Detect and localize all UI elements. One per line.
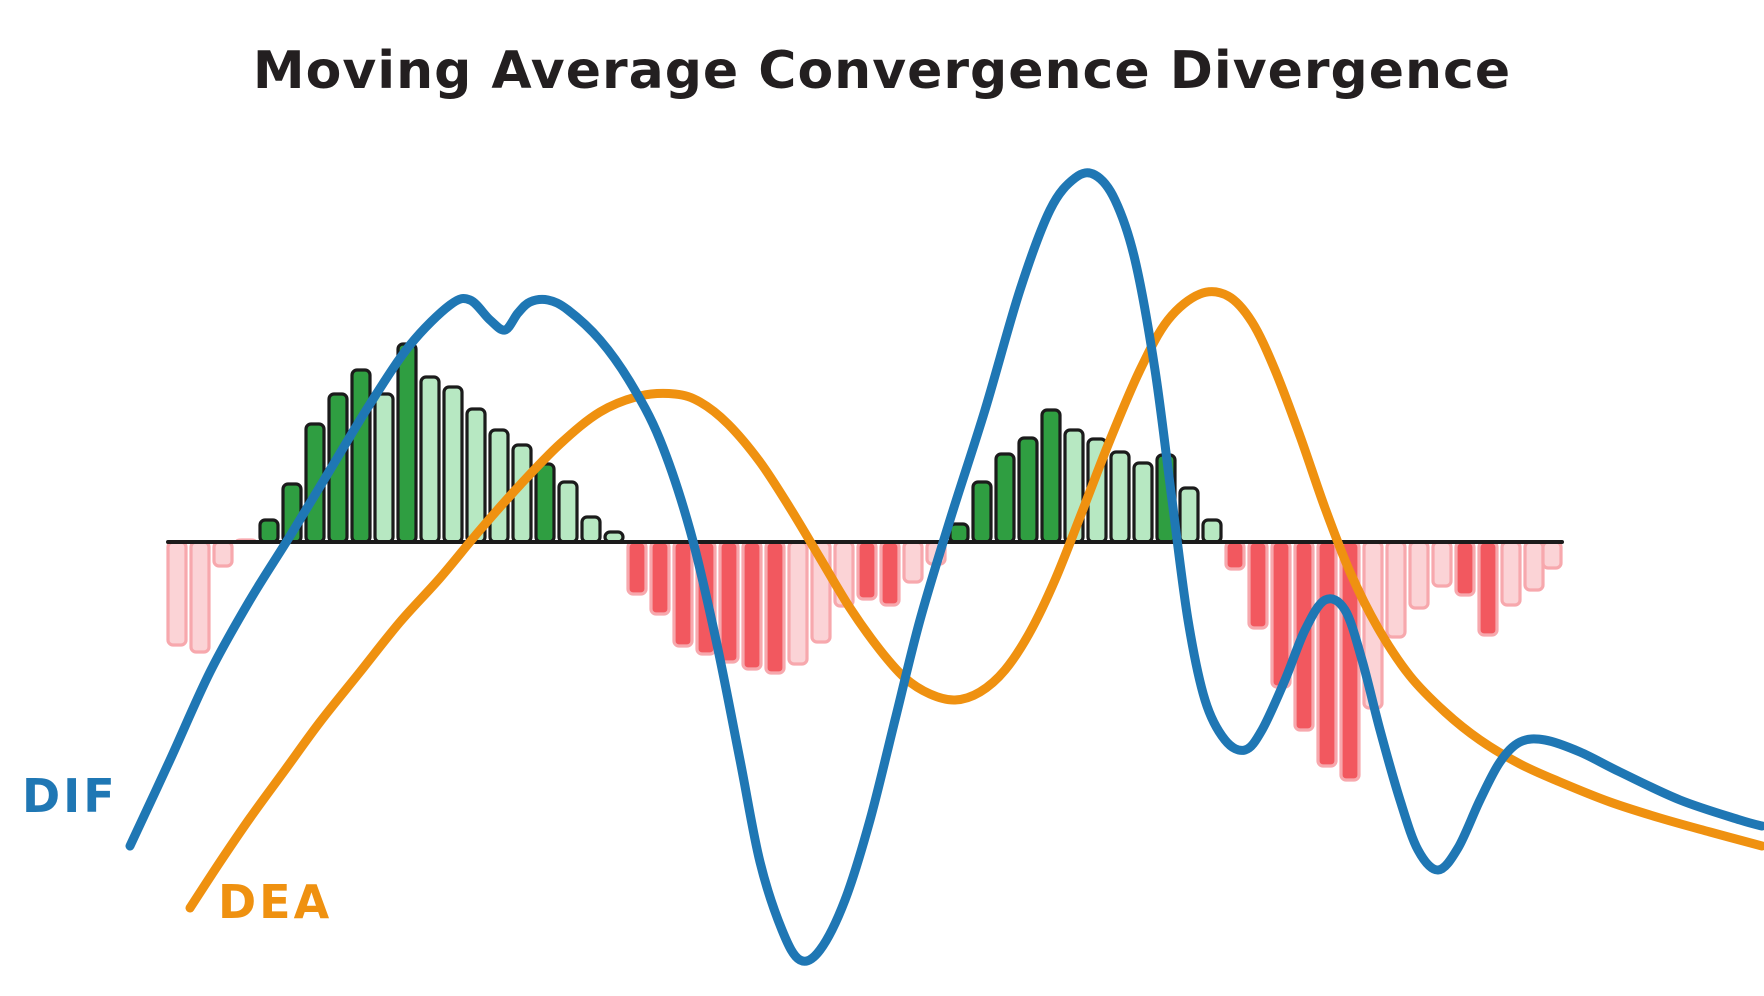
- histogram-bar: [789, 542, 807, 664]
- macd-chart-root: Moving Average Convergence Divergence DI…: [0, 0, 1764, 996]
- histogram-bar: [858, 542, 876, 599]
- histogram-bar: [1042, 410, 1060, 542]
- dif-series-label: DIF: [22, 769, 118, 823]
- histogram-bar: [1180, 488, 1198, 542]
- histogram-bar: [398, 344, 416, 542]
- histogram-bar: [1410, 542, 1428, 608]
- histogram-bar: [375, 394, 393, 542]
- histogram-bar: [168, 542, 186, 645]
- histogram-bar: [214, 542, 232, 566]
- histogram-bar: [1249, 542, 1267, 628]
- histogram-bar: [582, 517, 600, 542]
- histogram-bar: [1226, 542, 1244, 569]
- macd-chart-svg: Moving Average Convergence Divergence DI…: [0, 0, 1764, 996]
- histogram-bar: [1433, 542, 1451, 586]
- histogram-bar: [1502, 542, 1520, 605]
- histogram-bar: [444, 387, 462, 542]
- histogram-bar: [536, 464, 554, 542]
- histogram-bar: [904, 542, 922, 582]
- histogram-bar: [559, 482, 577, 542]
- histogram-bar: [881, 542, 899, 605]
- histogram-bar: [1479, 542, 1497, 635]
- histogram-bar: [191, 542, 209, 652]
- histogram-bar: [720, 542, 738, 662]
- histogram-bar: [766, 542, 784, 673]
- histogram-bar: [950, 524, 968, 542]
- histogram-bar: [260, 520, 278, 542]
- histogram-bar: [421, 377, 439, 542]
- histogram-bar: [1203, 520, 1221, 542]
- histogram-bar: [996, 454, 1014, 542]
- histogram-bar: [651, 542, 669, 614]
- histogram-bar: [1318, 542, 1336, 766]
- histogram-bar: [490, 430, 508, 542]
- histogram-bar: [743, 542, 761, 669]
- histogram-bar: [628, 542, 646, 594]
- histogram-bar: [1456, 542, 1474, 595]
- histogram-bar: [1525, 542, 1543, 590]
- histogram-bar: [973, 482, 991, 542]
- chart-background: [0, 0, 1764, 996]
- histogram-bar: [1543, 542, 1561, 568]
- histogram-bar: [352, 370, 370, 542]
- histogram-bar: [1111, 452, 1129, 542]
- histogram-bar: [1134, 463, 1152, 542]
- chart-title: Moving Average Convergence Divergence: [253, 41, 1511, 101]
- dea-series-label: DEA: [218, 875, 332, 929]
- histogram-bar: [1387, 542, 1405, 637]
- histogram-bar: [674, 542, 692, 646]
- histogram-bar: [1019, 438, 1037, 542]
